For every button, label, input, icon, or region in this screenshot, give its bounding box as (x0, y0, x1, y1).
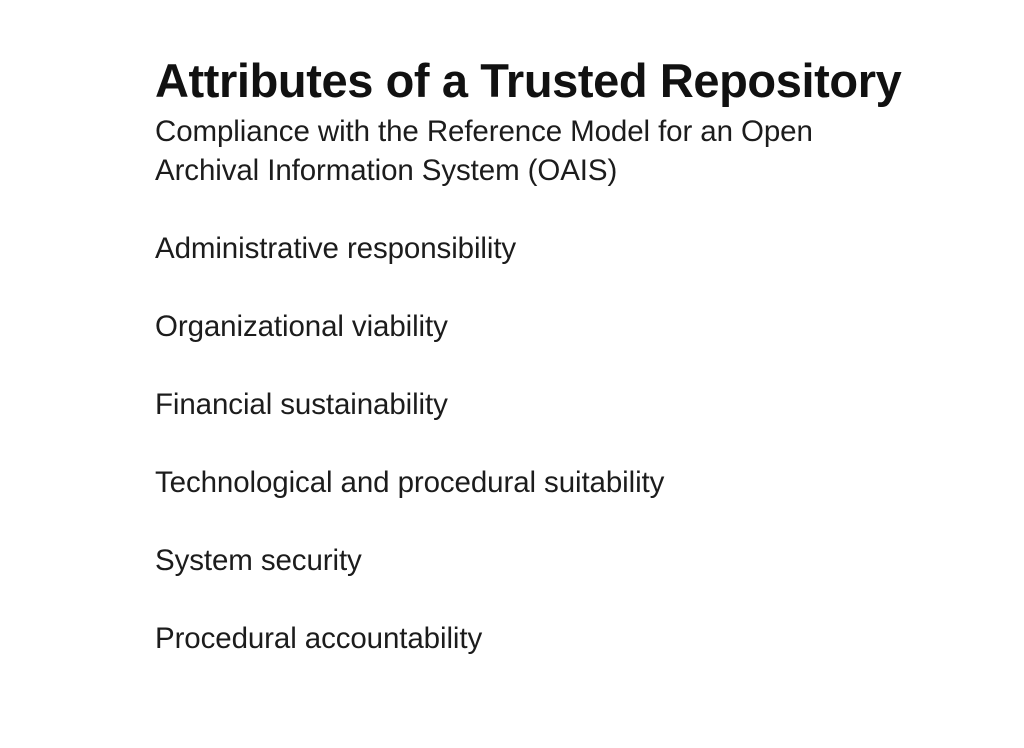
list-item: System security (155, 541, 955, 580)
list-item: Compliance with the Reference Model for … (155, 112, 860, 190)
list-item: Technological and procedural suitability (155, 463, 955, 502)
list-item: Financial sustainability (155, 385, 955, 424)
slide-content: Attributes of a Trusted Repository Compl… (155, 57, 955, 658)
presentation-slide: Attributes of a Trusted Repository Compl… (0, 0, 1024, 748)
page-title: Attributes of a Trusted Repository (155, 57, 955, 104)
attributes-list: Compliance with the Reference Model for … (155, 112, 955, 658)
list-item: Procedural accountability (155, 619, 955, 658)
list-item: Administrative responsibility (155, 229, 955, 268)
list-item: Organizational viability (155, 307, 955, 346)
